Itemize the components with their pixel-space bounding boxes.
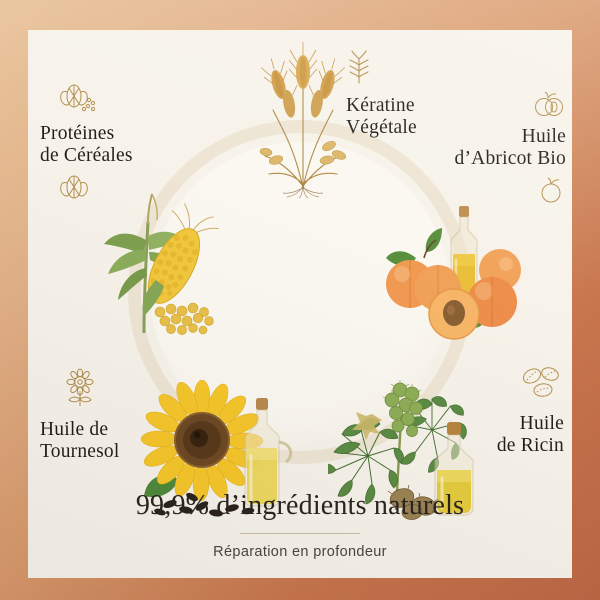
label-line-1: Huile de [40, 419, 120, 441]
apricot-icon [536, 176, 566, 209]
label-huile-tournesol: Huile de Tournesol [40, 366, 120, 463]
label-huile-ricin: Huile de Ricin [497, 362, 564, 457]
footer-block: 99,9% d’ingrédients naturels Réparation … [28, 490, 572, 560]
label-line-1: Huile [497, 413, 564, 435]
corn-icon [58, 82, 98, 119]
wheat-plant-illustration [243, 38, 363, 198]
wheat-icon [346, 50, 372, 89]
label-keratine-vegetale: Kératine Végétale [346, 50, 417, 139]
poster-frame: Kératine Végétale Huile d’Abricot Bio [0, 0, 600, 600]
label-line-2: d’Abricot Bio [455, 148, 566, 170]
castor-seeds-icon [518, 362, 564, 407]
label-line-2: de Ricin [497, 435, 564, 457]
footer-subtitle: Réparation en profondeur [28, 544, 572, 560]
label-line-1: Protéines [40, 123, 133, 145]
corn-icon [58, 173, 90, 210]
label-line-2: Végétale [346, 117, 417, 139]
label-line-1: Huile [455, 126, 566, 148]
sunflower-icon [60, 366, 100, 413]
label-line-1: Kératine [346, 95, 417, 117]
label-line-2: de Céréales [40, 145, 133, 167]
label-huile-abricot-bio: Huile d’Abricot Bio [455, 90, 566, 209]
footer-divider [240, 533, 360, 534]
label-proteines-cereales: Protéines de Céréales [40, 82, 133, 210]
apricot-oil-illustration [380, 202, 540, 342]
poster-panel: Kératine Végétale Huile d’Abricot Bio [28, 30, 572, 578]
label-line-2: Tournesol [40, 441, 120, 463]
apricot-icon [532, 90, 566, 123]
corn-illustration [86, 188, 236, 338]
natural-claim: 99,9% d’ingrédients naturels [28, 490, 572, 522]
